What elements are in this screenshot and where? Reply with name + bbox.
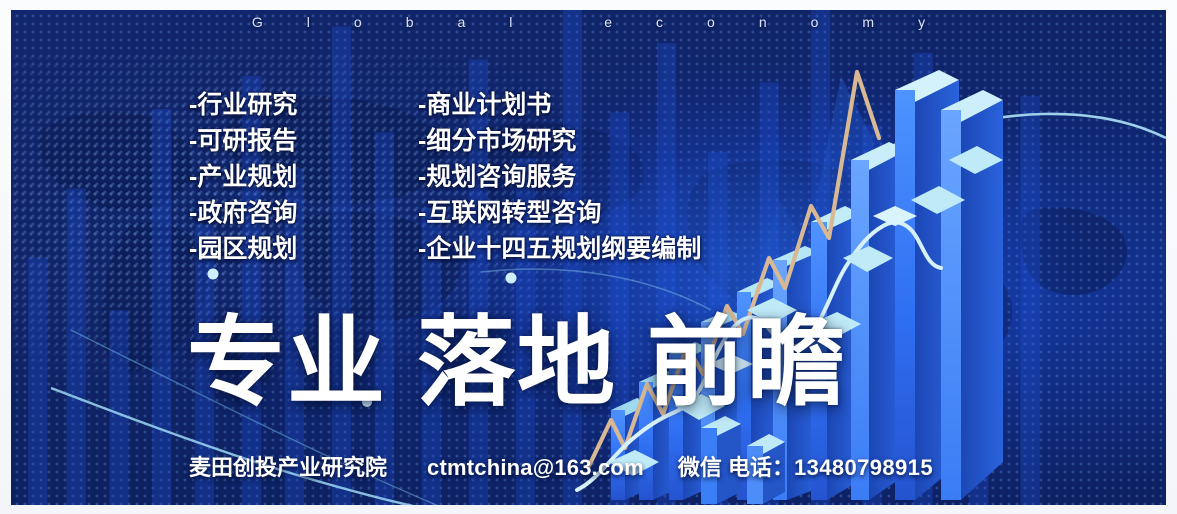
banner-image: Global economy -行业研究 -可研报告 -产业规划 -政府咨询 -… <box>0 0 1177 514</box>
kicker-global-economy: Global economy <box>11 14 1166 30</box>
services-list-right: -商业计划书 -细分市场研究 -规划咨询服务 -互联网转型咨询 -企业十四五规划… <box>418 90 701 270</box>
service-item: -行业研究 <box>189 90 297 121</box>
headline-word: 专业 <box>187 307 387 417</box>
headline-slogan: 专业落地前瞻 <box>187 310 847 414</box>
service-item: -规划咨询服务 <box>418 162 701 193</box>
service-item: -政府咨询 <box>189 198 297 229</box>
headline-word: 前瞻 <box>647 307 847 417</box>
headline-word: 落地 <box>417 307 617 417</box>
service-item: -企业十四五规划纲要编制 <box>418 234 701 265</box>
service-item: -可研报告 <box>189 126 297 157</box>
service-item: -互联网转型咨询 <box>418 198 701 229</box>
contact-channel-label: 微信 电话： <box>678 450 794 482</box>
service-item: -细分市场研究 <box>418 126 701 157</box>
poster-panel: Global economy -行业研究 -可研报告 -产业规划 -政府咨询 -… <box>11 10 1166 505</box>
phone-number: 13480798915 <box>794 455 933 481</box>
email-address: ctmtchina@163.com <box>427 455 644 481</box>
contact-bar: 麦田创投产业研究院ctmtchina@163.com微信 电话：13480798… <box>189 450 933 482</box>
service-item: -产业规划 <box>189 162 297 193</box>
organization-name: 麦田创投产业研究院 <box>189 450 387 482</box>
service-item: -商业计划书 <box>418 90 701 121</box>
services-list-left: -行业研究 -可研报告 -产业规划 -政府咨询 -园区规划 <box>189 90 297 270</box>
service-item: -园区规划 <box>189 234 297 265</box>
